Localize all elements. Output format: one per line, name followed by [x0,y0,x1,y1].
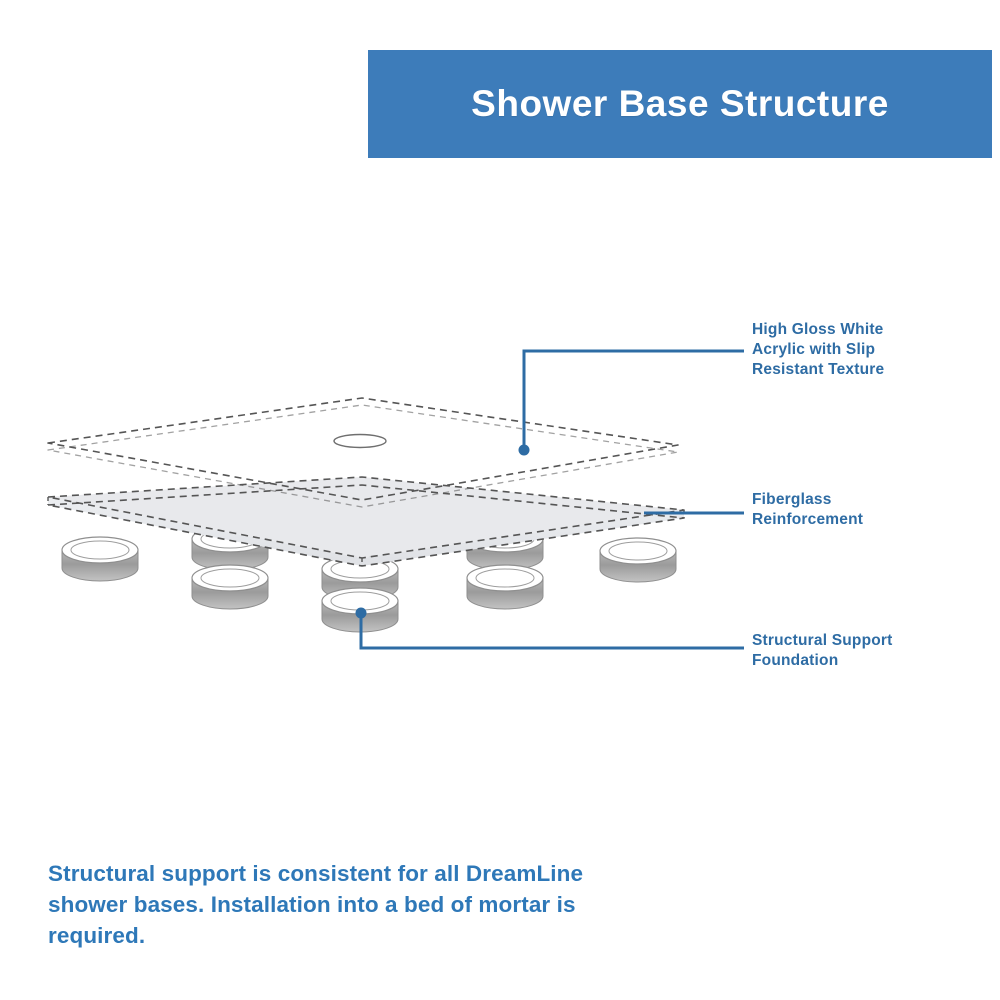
callout-label-fiberglass: Fiberglass Reinforcement [752,490,863,530]
support-ring [600,538,676,582]
support-ring [62,537,138,581]
callout-label-support: Structural Support Foundation [752,631,893,671]
callout-leader-acrylic [524,351,744,450]
callout-label-acrylic: High Gloss White Acrylic with Slip Resis… [752,320,884,380]
drain-opening [334,435,386,448]
callout-dot-support [356,608,367,619]
fiberglass-layer [48,477,684,566]
support-ring [467,565,543,609]
diagram-page: Shower Base Structure [0,0,1000,1000]
callout-dot-acrylic [519,445,530,456]
footer-caption: Structural support is consistent for all… [48,858,668,951]
support-ring [192,565,268,609]
callout-leader-support [361,613,744,648]
